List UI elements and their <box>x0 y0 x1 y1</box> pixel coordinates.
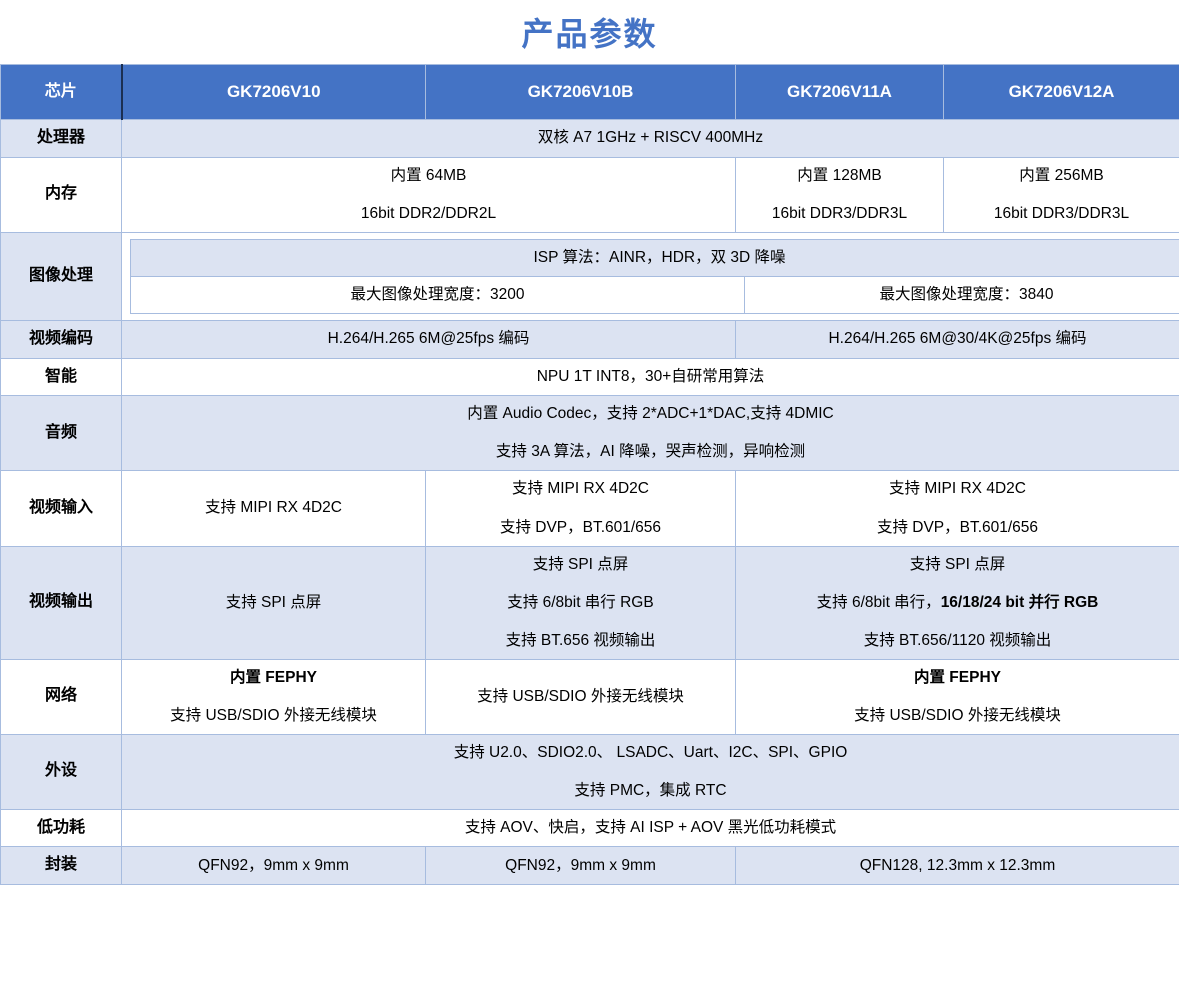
table-row-video-output: 视频输出 支持 SPI 点屏 支持 SPI 点屏 支持 6/8bit 串行 RG… <box>1 546 1179 659</box>
table-row-video-encoding: 视频编码 H.264/H.265 6M@25fps 编码 H.264/H.265… <box>1 320 1179 358</box>
row-label-memory: 内存 <box>1 157 122 232</box>
network-col34-line2: 支持 USB/SDIO 外接无线模块 <box>744 704 1171 728</box>
cell-video-output-col2: 支持 SPI 点屏 支持 6/8bit 串行 RGB 支持 BT.656 视频输… <box>426 546 736 659</box>
video-output-col34-line1: 支持 SPI 点屏 <box>744 553 1171 577</box>
image-processing-width-left: 最大图像处理宽度：3200 <box>131 276 745 313</box>
cell-video-input-col2: 支持 MIPI RX 4D2C 支持 DVP，BT.601/656 <box>426 471 736 546</box>
table-row-network: 网络 内置 FEPHY 支持 USB/SDIO 外接无线模块 支持 USB/SD… <box>1 659 1179 734</box>
header-row: 芯片 GK7206V10 GK7206V10B GK7206V11A GK720… <box>1 65 1179 120</box>
video-input-col2-line1: 支持 MIPI RX 4D2C <box>434 477 727 501</box>
cell-package-col1: QFN92，9mm x 9mm <box>122 847 426 885</box>
memory-col12-line1: 内置 64MB <box>130 164 727 188</box>
video-output-col34-line2: 支持 6/8bit 串行，16/18/24 bit 并行 RGB <box>744 591 1171 615</box>
video-input-col34-line1: 支持 MIPI RX 4D2C <box>744 477 1171 501</box>
network-col1-line1: 内置 FEPHY <box>130 666 417 690</box>
table-row-image-processing: 图像处理 ISP 算法：AINR，HDR，双 3D 降噪 最大图像处理宽度：32… <box>1 232 1179 320</box>
memory-col12-line2: 16bit DDR2/DDR2L <box>130 202 727 226</box>
table-row-audio: 音频 内置 Audio Codec，支持 2*ADC+1*DAC,支持 4DMI… <box>1 396 1179 471</box>
video-output-col2-line1: 支持 SPI 点屏 <box>434 553 727 577</box>
table-row-memory: 内存 内置 64MB 16bit DDR2/DDR2L 内置 128MB 16b… <box>1 157 1179 232</box>
cell-video-encoding-left: H.264/H.265 6M@25fps 编码 <box>122 320 736 358</box>
memory-col3-line1: 内置 128MB <box>744 164 935 188</box>
cell-peripherals: 支持 U2.0、SDIO2.0、 LSADC、Uart、I2C、SPI、GPIO… <box>122 734 1179 809</box>
table-row-peripherals: 外设 支持 U2.0、SDIO2.0、 LSADC、Uart、I2C、SPI、G… <box>1 734 1179 809</box>
row-label-image-processing: 图像处理 <box>1 232 122 320</box>
cell-memory-col3: 内置 128MB 16bit DDR3/DDR3L <box>736 157 944 232</box>
row-label-package: 封装 <box>1 847 122 885</box>
row-label-intelligence: 智能 <box>1 358 122 396</box>
cell-network-col1: 内置 FEPHY 支持 USB/SDIO 外接无线模块 <box>122 659 426 734</box>
row-label-video-encoding: 视频编码 <box>1 320 122 358</box>
image-processing-subrow-width: 最大图像处理宽度：3200 最大图像处理宽度：3840 <box>131 276 1179 313</box>
audio-line2: 支持 3A 算法，AI 降噪，哭声检测，异响检测 <box>130 440 1171 464</box>
row-label-audio: 音频 <box>1 396 122 471</box>
image-processing-stack: ISP 算法：AINR，HDR，双 3D 降噪 最大图像处理宽度：3200 最大… <box>130 239 1179 314</box>
cell-video-input-col34: 支持 MIPI RX 4D2C 支持 DVP，BT.601/656 <box>736 471 1179 546</box>
cell-intelligence-value: NPU 1T INT8，30+自研常用算法 <box>122 358 1179 396</box>
cell-video-encoding-right: H.264/H.265 6M@30/4K@25fps 编码 <box>736 320 1179 358</box>
video-input-col2-line2: 支持 DVP，BT.601/656 <box>434 516 727 540</box>
product-spec-page: 产品参数 芯片 GK7206V10 GK7206V10B GK7206V11A … <box>0 0 1179 984</box>
table-header: 芯片 GK7206V10 GK7206V10B GK7206V11A GK720… <box>1 65 1179 120</box>
cell-network-col2: 支持 USB/SDIO 外接无线模块 <box>426 659 736 734</box>
cell-low-power-value: 支持 AOV、快启，支持 AI ISP + AOV 黑光低功耗模式 <box>122 809 1179 847</box>
header-col-gk7206v11a: GK7206V11A <box>736 65 944 120</box>
cell-package-col34: QFN128, 12.3mm x 12.3mm <box>736 847 1179 885</box>
memory-col4-line2: 16bit DDR3/DDR3L <box>952 202 1171 226</box>
memory-col3-line2: 16bit DDR3/DDR3L <box>744 202 935 226</box>
header-col-gk7206v10: GK7206V10 <box>122 65 426 120</box>
table-row-low-power: 低功耗 支持 AOV、快启，支持 AI ISP + AOV 黑光低功耗模式 <box>1 809 1179 847</box>
image-processing-isp: ISP 算法：AINR，HDR，双 3D 降噪 <box>131 239 1179 276</box>
video-input-col34-line2: 支持 DVP，BT.601/656 <box>744 516 1171 540</box>
cell-network-col34: 内置 FEPHY 支持 USB/SDIO 外接无线模块 <box>736 659 1179 734</box>
cell-video-output-col34: 支持 SPI 点屏 支持 6/8bit 串行，16/18/24 bit 并行 R… <box>736 546 1179 659</box>
video-output-col34-line2-plain: 支持 6/8bit 串行， <box>817 594 941 611</box>
cell-package-col2: QFN92，9mm x 9mm <box>426 847 736 885</box>
cell-memory-col4: 内置 256MB 16bit DDR3/DDR3L <box>944 157 1179 232</box>
table-body: 处理器 双核 A7 1GHz + RISCV 400MHz 内存 内置 64MB… <box>1 120 1179 885</box>
cell-audio: 内置 Audio Codec，支持 2*ADC+1*DAC,支持 4DMIC 支… <box>122 396 1179 471</box>
cell-processor-value: 双核 A7 1GHz + RISCV 400MHz <box>122 120 1179 158</box>
audio-line1: 内置 Audio Codec，支持 2*ADC+1*DAC,支持 4DMIC <box>130 402 1171 426</box>
page-title: 产品参数 <box>0 0 1179 64</box>
header-col-gk7206v12a: GK7206V12A <box>944 65 1179 120</box>
image-processing-subrow-isp: ISP 算法：AINR，HDR，双 3D 降噪 <box>131 239 1179 276</box>
video-output-col2-line2: 支持 6/8bit 串行 RGB <box>434 591 727 615</box>
table-row-processor: 处理器 双核 A7 1GHz + RISCV 400MHz <box>1 120 1179 158</box>
peripherals-line1: 支持 U2.0、SDIO2.0、 LSADC、Uart、I2C、SPI、GPIO <box>130 741 1171 765</box>
row-label-network: 网络 <box>1 659 122 734</box>
cell-image-processing: ISP 算法：AINR，HDR，双 3D 降噪 最大图像处理宽度：3200 最大… <box>122 232 1179 320</box>
peripherals-line2: 支持 PMC，集成 RTC <box>130 779 1171 803</box>
row-label-processor: 处理器 <box>1 120 122 158</box>
row-label-peripherals: 外设 <box>1 734 122 809</box>
header-col-gk7206v10b: GK7206V10B <box>426 65 736 120</box>
table-row-package: 封装 QFN92，9mm x 9mm QFN92，9mm x 9mm QFN12… <box>1 847 1179 885</box>
cell-memory-col12: 内置 64MB 16bit DDR2/DDR2L <box>122 157 736 232</box>
table-row-intelligence: 智能 NPU 1T INT8，30+自研常用算法 <box>1 358 1179 396</box>
spec-table: 芯片 GK7206V10 GK7206V10B GK7206V11A GK720… <box>0 64 1179 885</box>
row-label-low-power: 低功耗 <box>1 809 122 847</box>
memory-col4-line1: 内置 256MB <box>952 164 1171 188</box>
cell-video-output-col1: 支持 SPI 点屏 <box>122 546 426 659</box>
header-chip-label: 芯片 <box>1 65 122 120</box>
table-row-video-input: 视频输入 支持 MIPI RX 4D2C 支持 MIPI RX 4D2C 支持 … <box>1 471 1179 546</box>
row-label-video-output: 视频输出 <box>1 546 122 659</box>
video-output-col34-line3: 支持 BT.656/1120 视频输出 <box>744 629 1171 653</box>
image-processing-width-right: 最大图像处理宽度：3840 <box>745 276 1179 313</box>
network-col34-line1: 内置 FEPHY <box>744 666 1171 690</box>
video-output-col34-line2-bold: 16/18/24 bit 并行 RGB <box>941 594 1099 611</box>
cell-video-input-col1: 支持 MIPI RX 4D2C <box>122 471 426 546</box>
row-label-video-input: 视频输入 <box>1 471 122 546</box>
video-output-col2-line3: 支持 BT.656 视频输出 <box>434 629 727 653</box>
network-col1-line2: 支持 USB/SDIO 外接无线模块 <box>130 704 417 728</box>
